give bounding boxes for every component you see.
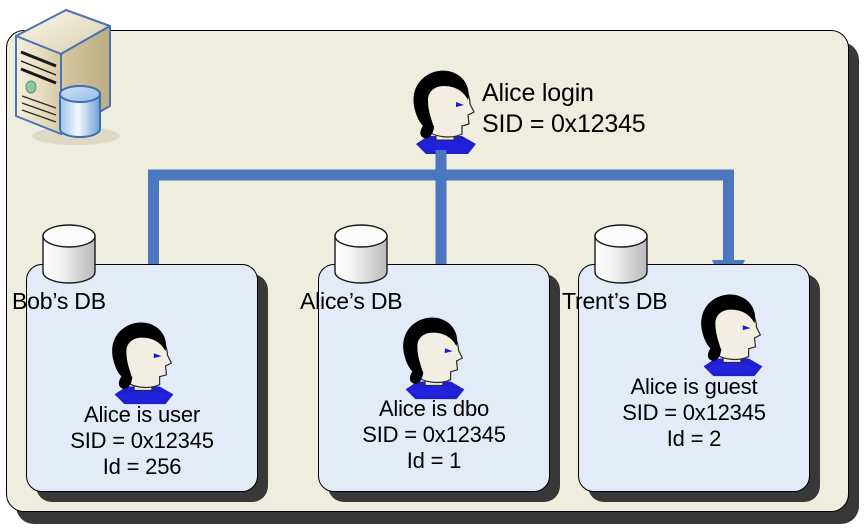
caption-line-2: SID = 0x12345 [578,400,810,426]
login-line-1: Alice login [482,78,646,109]
db-caption-alices-db: Alice is dbo SID = 0x12345 Id = 1 [318,396,550,474]
caption-line-3: Id = 1 [318,448,550,474]
server-tower-icon [4,4,124,152]
database-cylinder-icon-3 [592,224,650,286]
caption-line-3: Id = 2 [578,426,810,452]
person-head-icon-bobs-db [97,318,189,410]
person-head-icon-login [398,66,492,160]
login-label: Alice login SID = 0x12345 [482,78,646,140]
person-head-icon-alices-db [388,313,480,405]
caption-line-3: Id = 256 [26,454,258,480]
server-database-cylinder [60,86,100,137]
caption-line-1: Alice is guest [578,374,810,400]
db-caption-bobs-db: Alice is user SID = 0x12345 Id = 256 [26,402,258,480]
caption-line-1: Alice is dbo [318,396,550,422]
database-cylinder-icon-2 [332,224,390,286]
caption-line-2: SID = 0x12345 [318,422,550,448]
person-head-icon-trents-db [686,290,778,382]
diagram-canvas: Alice login SID = 0x12345 [0,0,864,529]
caption-line-2: SID = 0x12345 [26,428,258,454]
caption-line-1: Alice is user [26,402,258,428]
db-label-trents-db: Trent’s DB [562,288,667,315]
db-caption-trents-db: Alice is guest SID = 0x12345 Id = 2 [578,374,810,452]
db-label-alices-db: Alice’s DB [300,288,402,315]
login-line-2: SID = 0x12345 [482,109,646,140]
db-label-bobs-db: Bob’s DB [12,288,106,315]
database-cylinder-icon-1 [40,224,98,286]
